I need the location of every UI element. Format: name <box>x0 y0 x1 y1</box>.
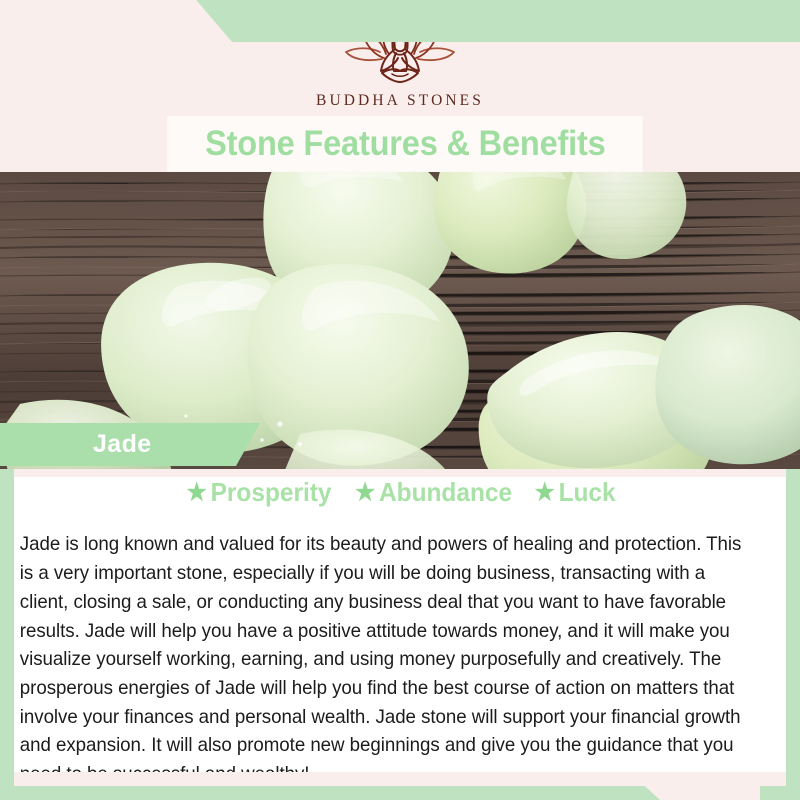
stone-info-poster: BUDDHA STONES Stone Features & Benefits <box>0 0 800 800</box>
stone-name-band: Jade <box>0 423 260 466</box>
benefit-item-abundance: ★Abundance <box>355 477 512 508</box>
benefit-label: Abundance <box>379 477 512 507</box>
benefit-label: Prosperity <box>211 477 332 507</box>
benefit-item-luck: ★Luck <box>534 477 615 508</box>
benefit-label: Luck <box>558 477 615 507</box>
star-icon: ★ <box>355 478 375 507</box>
benefit-item-prosperity: ★Prosperity <box>187 477 332 508</box>
benefits-row: ★Prosperity★Abundance★Luck <box>14 477 786 508</box>
stone-description: Jade is long known and valued for its be… <box>14 530 759 788</box>
content-bottom-spacer <box>14 772 786 786</box>
title-banner: Stone Features & Benefits <box>168 117 642 171</box>
content-panel: ★Prosperity★Abundance★Luck Jade is long … <box>14 469 786 772</box>
content-top-spacer <box>14 469 786 477</box>
page-title: Stone Features & Benefits <box>205 124 606 164</box>
stone-name: Jade <box>93 430 152 459</box>
star-icon: ★ <box>534 478 554 507</box>
star-icon: ★ <box>187 478 207 507</box>
brand-name: BUDDHA STONES <box>0 92 800 110</box>
